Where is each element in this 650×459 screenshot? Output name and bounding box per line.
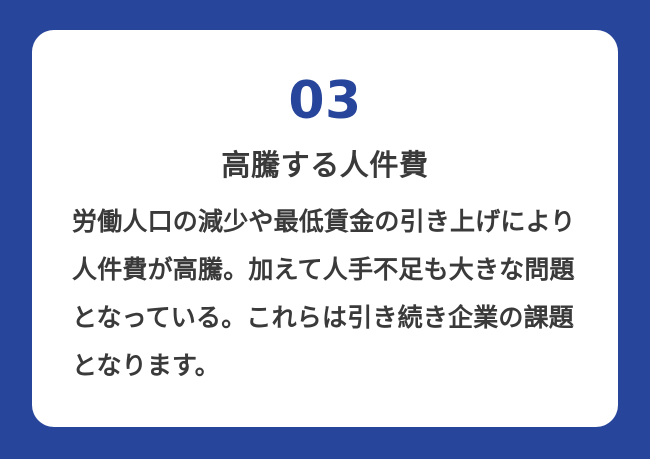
content-card: 03 高騰する人件費 労働人口の減少や最低賃金の引き上げにより 人件費が高騰。加… xyxy=(32,30,618,427)
body-line: 労働人口の減少や最低賃金の引き上げにより xyxy=(72,198,584,246)
body-line: となっている。これらは引き続き企業の課題 xyxy=(72,294,584,342)
body-text-block: 労働人口の減少や最低賃金の引き上げにより 人件費が高騰。加えて人手不足も大きな問… xyxy=(72,198,584,390)
body-line: となります。 xyxy=(72,342,584,390)
step-number: 03 xyxy=(32,75,618,127)
body-line: 人件費が高騰。加えて人手不足も大きな問題 xyxy=(72,246,584,294)
slide-root: 03 高騰する人件費 労働人口の減少や最低賃金の引き上げにより 人件費が高騰。加… xyxy=(0,0,650,459)
card-inner: 03 高騰する人件費 労働人口の減少や最低賃金の引き上げにより 人件費が高騰。加… xyxy=(32,30,618,427)
page-title: 高騰する人件費 xyxy=(32,148,618,182)
